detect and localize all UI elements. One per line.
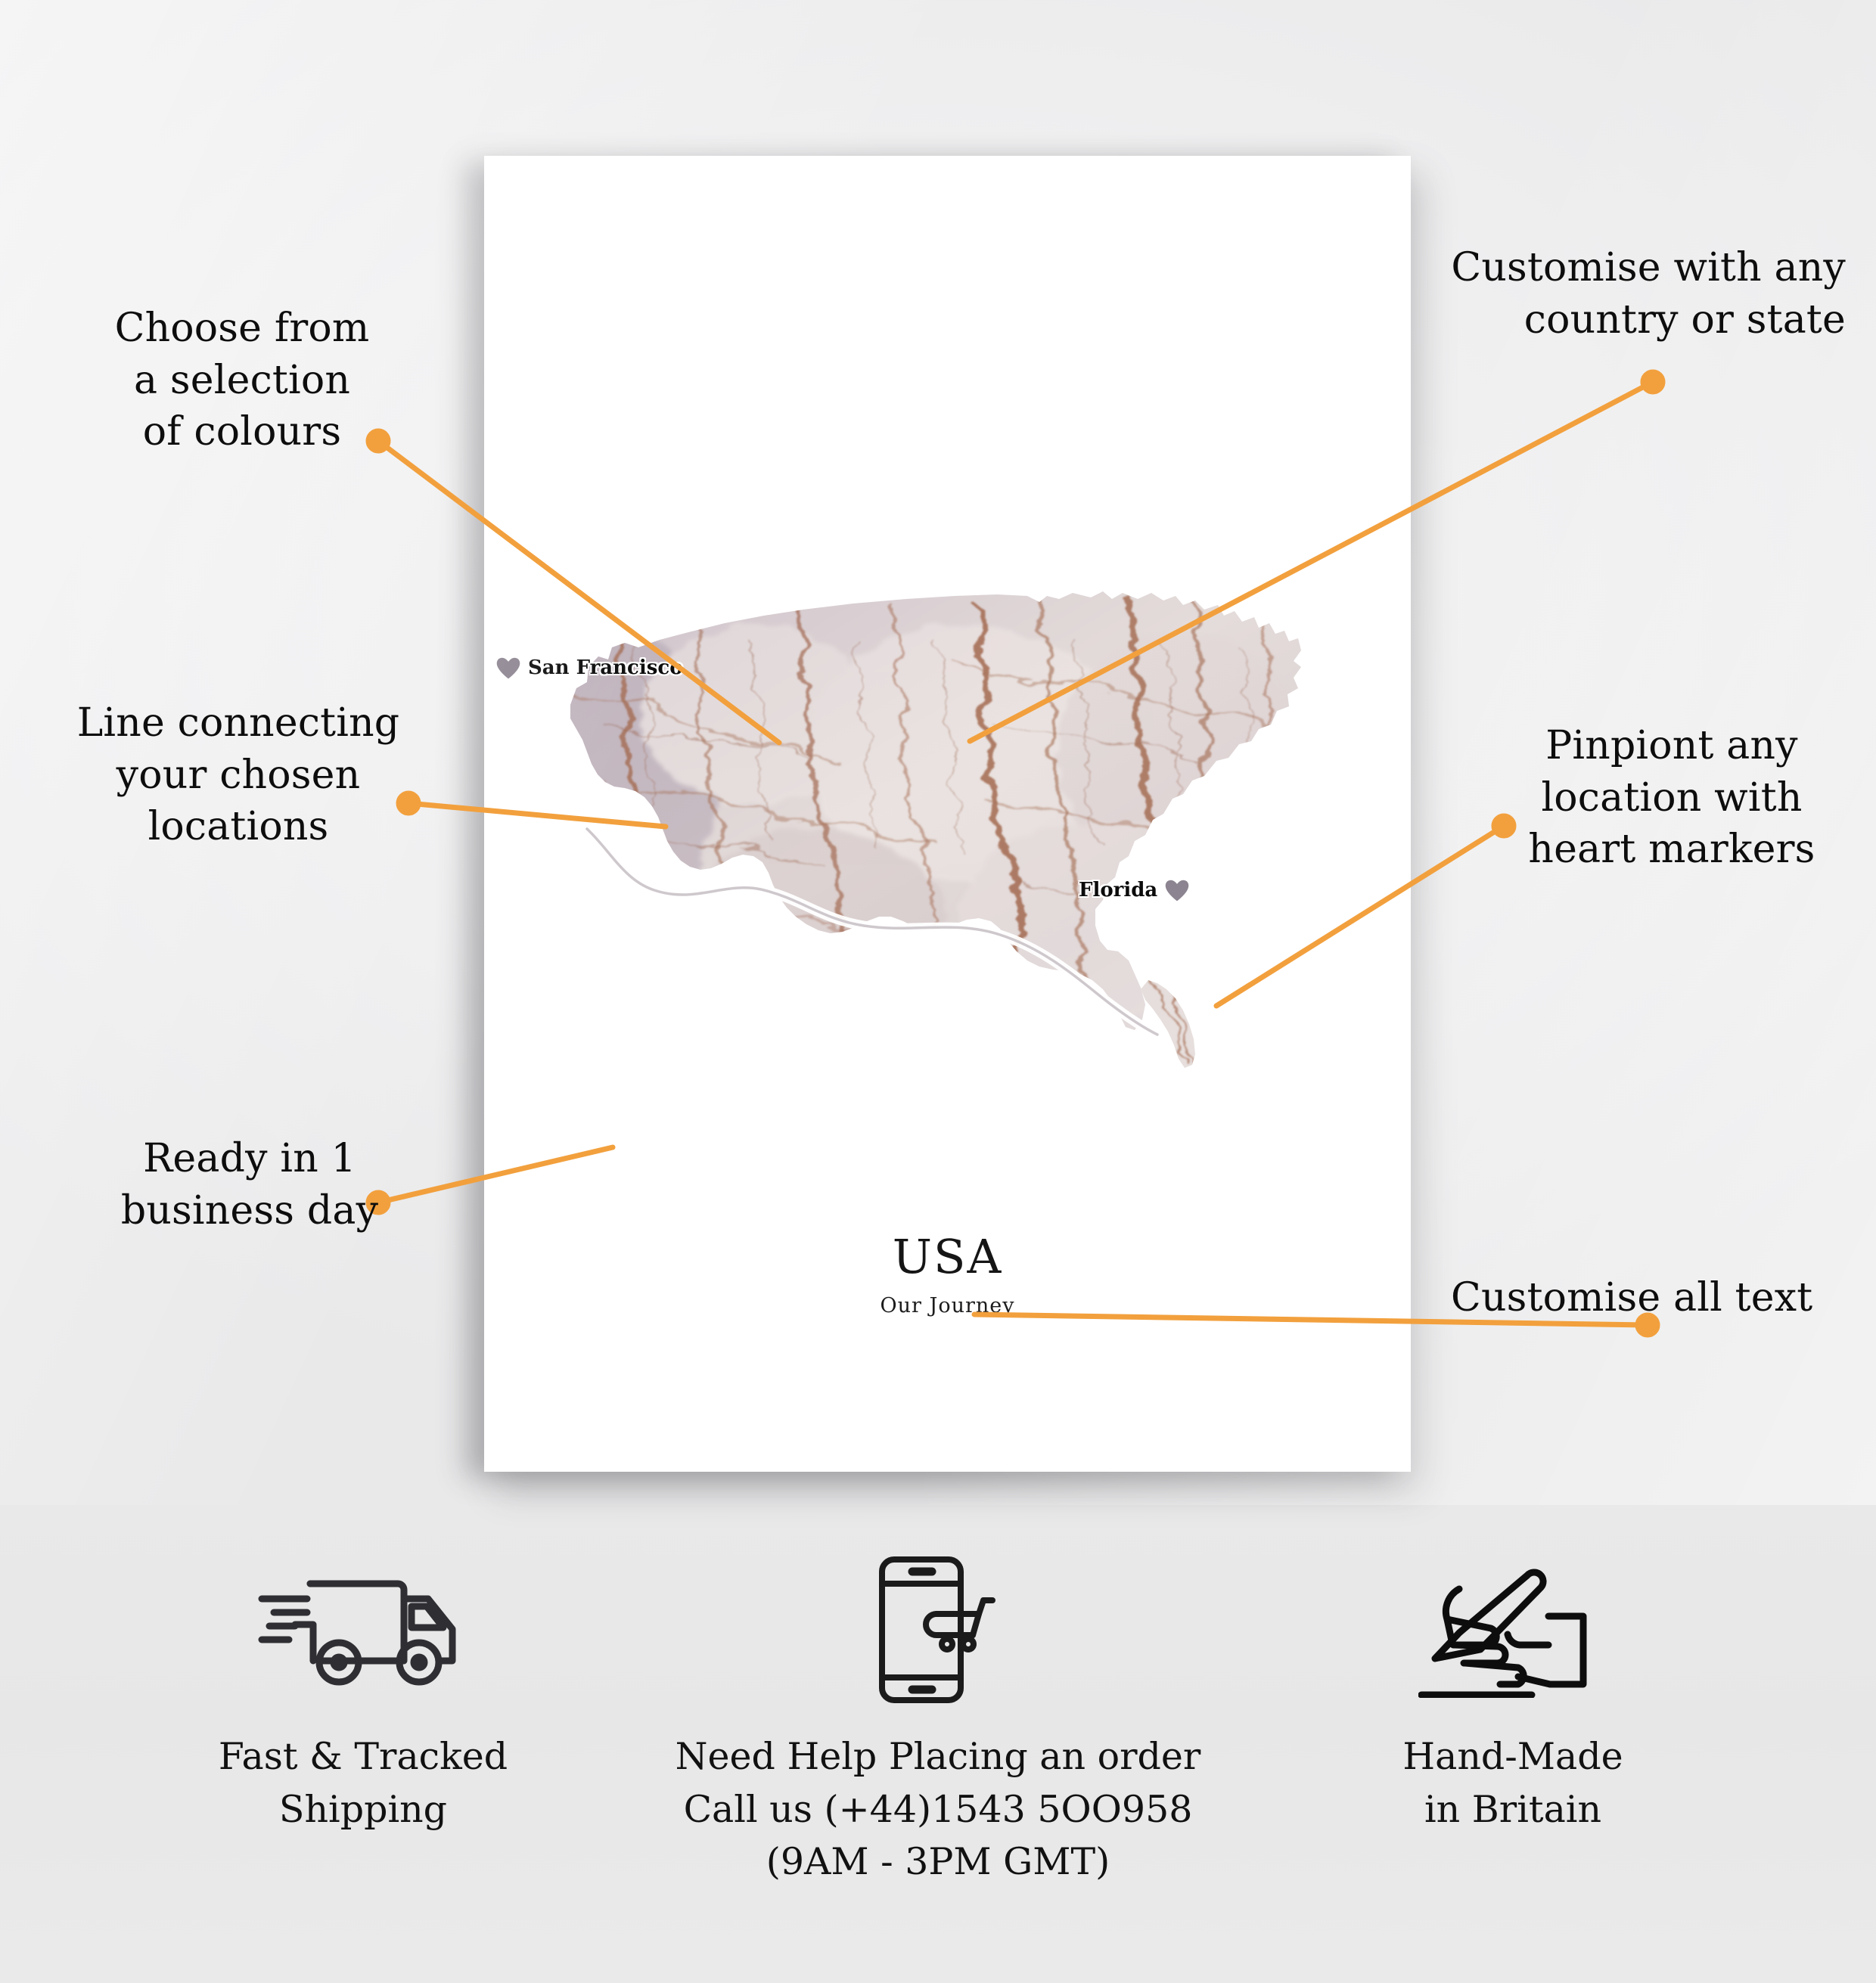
feature-line: Call us (+44)1543 5OO958 — [676, 1783, 1201, 1836]
hand-writing-icon — [1418, 1543, 1607, 1717]
infographic-page: San Francisco Florida USA Our Journey — [0, 0, 1876, 1983]
feature-line: Hand-Made — [1402, 1730, 1623, 1783]
poster-title: USA — [484, 1234, 1411, 1280]
feature-line: in Britain — [1402, 1783, 1623, 1836]
poster-preview[interactable]: San Francisco Florida USA Our Journey — [484, 156, 1411, 1472]
feature-handmade-text: Hand-Made in Britain — [1402, 1730, 1623, 1836]
feature-strip: Fast & Tracked Shipping — [0, 1543, 1876, 1966]
map-graphic: San Francisco Florida — [498, 526, 1398, 1071]
poster-subtitle: Our Journey — [484, 1294, 1411, 1317]
usa-map-svg — [498, 526, 1398, 1071]
feature-shipping: Fast & Tracked Shipping — [76, 1543, 651, 1836]
delivery-truck-icon — [250, 1543, 477, 1717]
marker-label: Florida — [1079, 879, 1157, 902]
feature-help: Need Help Placing an order Call us (+44)… — [651, 1543, 1225, 1888]
phone-cart-icon — [855, 1543, 1021, 1717]
heart-marker-icon — [1162, 876, 1192, 905]
marker-san-francisco[interactable]: San Francisco — [493, 653, 683, 682]
map-body — [498, 526, 1398, 1071]
feature-shipping-text: Fast & Tracked Shipping — [219, 1730, 508, 1836]
marker-florida[interactable]: Florida — [1079, 876, 1192, 905]
feature-handmade: Hand-Made in Britain — [1225, 1543, 1800, 1836]
feature-line: Fast & Tracked — [219, 1730, 508, 1783]
feature-line: (9AM - 3PM GMT) — [676, 1836, 1201, 1888]
feature-help-text: Need Help Placing an order Call us (+44)… — [676, 1730, 1201, 1888]
marker-label: San Francisco — [528, 656, 683, 679]
heart-marker-icon — [493, 653, 523, 682]
feature-line: Need Help Placing an order — [676, 1730, 1201, 1783]
feature-line: Shipping — [219, 1783, 508, 1836]
